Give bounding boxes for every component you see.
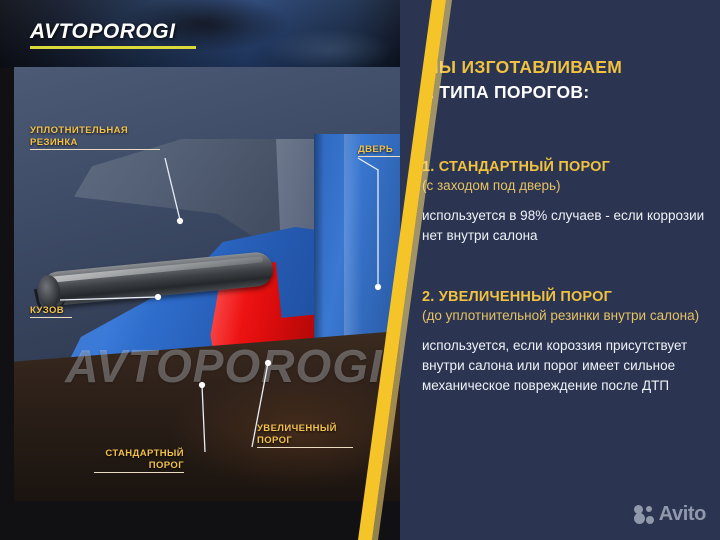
yellow-diagonal-divider: [0, 0, 720, 540]
poster-root: AVTOPOROGI УПЛОТНИТЕЛ: [0, 0, 720, 540]
